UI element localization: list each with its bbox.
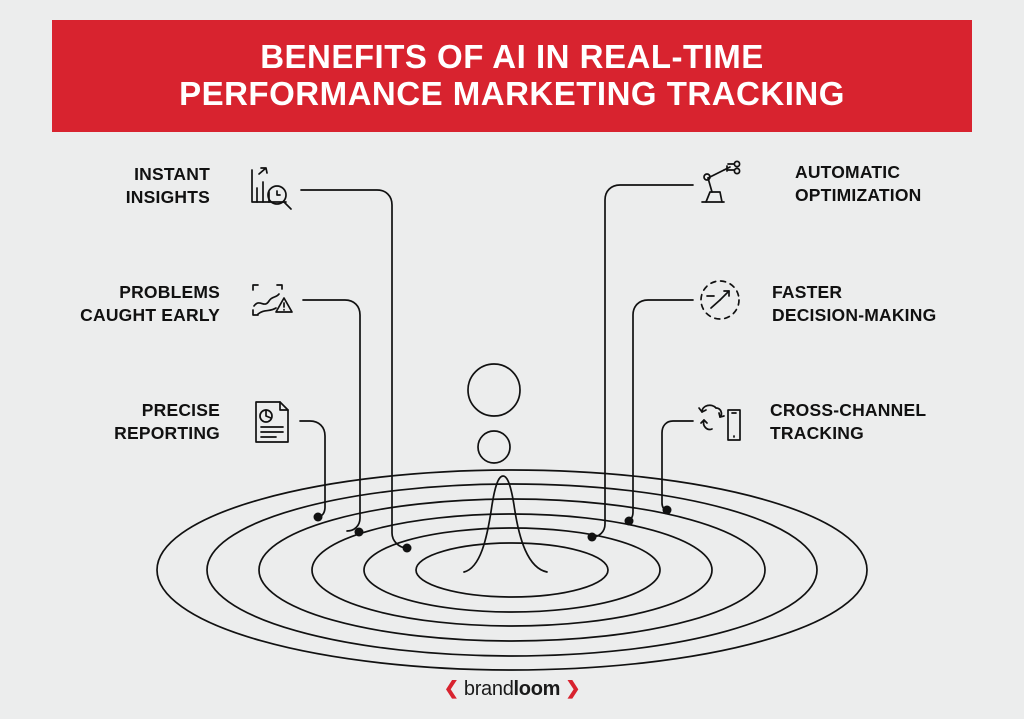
label-problems-caught-early-line1: PROBLEMS [20, 281, 220, 304]
ripple-ring-2 [207, 484, 817, 656]
connector-right-2 [626, 300, 693, 521]
infographic-canvas: BENEFITS OF AI IN REAL-TIME PERFORMANCE … [0, 0, 1024, 719]
robot-arm-icon [694, 158, 746, 210]
label-instant-insights: INSTANT INSIGHTS [30, 163, 210, 209]
ripple-ring-3 [259, 499, 765, 641]
connector-left-2 [303, 300, 360, 531]
endpoint-dot-left-2 [355, 528, 364, 537]
label-problems-caught-early-line2: CAUGHT EARLY [20, 304, 220, 327]
connector-right-1 [592, 185, 693, 537]
connector-left-1 [301, 190, 407, 548]
title-line-2: PERFORMANCE MARKETING TRACKING [179, 76, 845, 113]
label-precise-reporting-line2: REPORTING [25, 422, 220, 445]
report-document-icon [246, 396, 298, 448]
label-cross-channel-tracking-line2: TRACKING [770, 422, 1005, 445]
brand-name-bold: loom [514, 678, 561, 700]
label-faster-decision-making-line1: FASTER [772, 281, 1002, 304]
label-faster-decision-making: FASTER DECISION-MAKING [772, 281, 1002, 327]
connector-endpoint-dots [314, 506, 672, 553]
endpoint-dot-left-3 [314, 513, 323, 522]
label-instant-insights-line2: INSIGHTS [30, 186, 210, 209]
dashed-speed-circle-icon [694, 274, 746, 326]
brand-name-thin: brand [464, 678, 514, 700]
label-cross-channel-tracking: CROSS-CHANNEL TRACKING [770, 399, 1005, 445]
label-problems-caught-early: PROBLEMS CAUGHT EARLY [20, 281, 220, 327]
endpoint-dot-left-1 [403, 544, 412, 553]
ripple-ring-1 [157, 470, 867, 670]
label-cross-channel-tracking-line1: CROSS-CHANNEL [770, 399, 1005, 422]
label-precise-reporting: PRECISE REPORTING [25, 399, 220, 445]
brand-footer: ❮ brandloom ❯ [0, 678, 1024, 701]
floating-circle-small [478, 431, 510, 463]
alert-chart-icon [246, 276, 298, 328]
label-instant-insights-line1: INSTANT [30, 163, 210, 186]
endpoint-dot-right-2 [625, 517, 634, 526]
title-line-1: BENEFITS OF AI IN REAL-TIME [260, 39, 764, 76]
center-peak [464, 476, 547, 572]
label-precise-reporting-line1: PRECISE [25, 399, 220, 422]
label-automatic-optimization-line2: OPTIMIZATION [795, 184, 1015, 207]
label-automatic-optimization-line1: AUTOMATIC [795, 161, 1015, 184]
bar-chart-magnifier-icon [246, 162, 298, 214]
endpoint-dot-right-3 [663, 506, 672, 515]
label-automatic-optimization: AUTOMATIC OPTIMIZATION [795, 161, 1015, 207]
connector-right-3 [662, 421, 693, 510]
ripple-ring-5 [364, 528, 660, 612]
ripple-ring-6 [416, 543, 608, 597]
endpoint-dot-right-1 [588, 533, 597, 542]
label-faster-decision-making-line2: DECISION-MAKING [772, 304, 1002, 327]
title-banner: BENEFITS OF AI IN REAL-TIME PERFORMANCE … [52, 20, 972, 132]
brand-right-chevron: ❯ [565, 678, 580, 698]
connector-left-3 [300, 421, 325, 517]
ripple-ring-4 [312, 514, 712, 626]
brand-left-chevron: ❮ [444, 678, 459, 698]
cross-channel-devices-icon [694, 396, 746, 448]
floating-circle-large [468, 364, 520, 416]
